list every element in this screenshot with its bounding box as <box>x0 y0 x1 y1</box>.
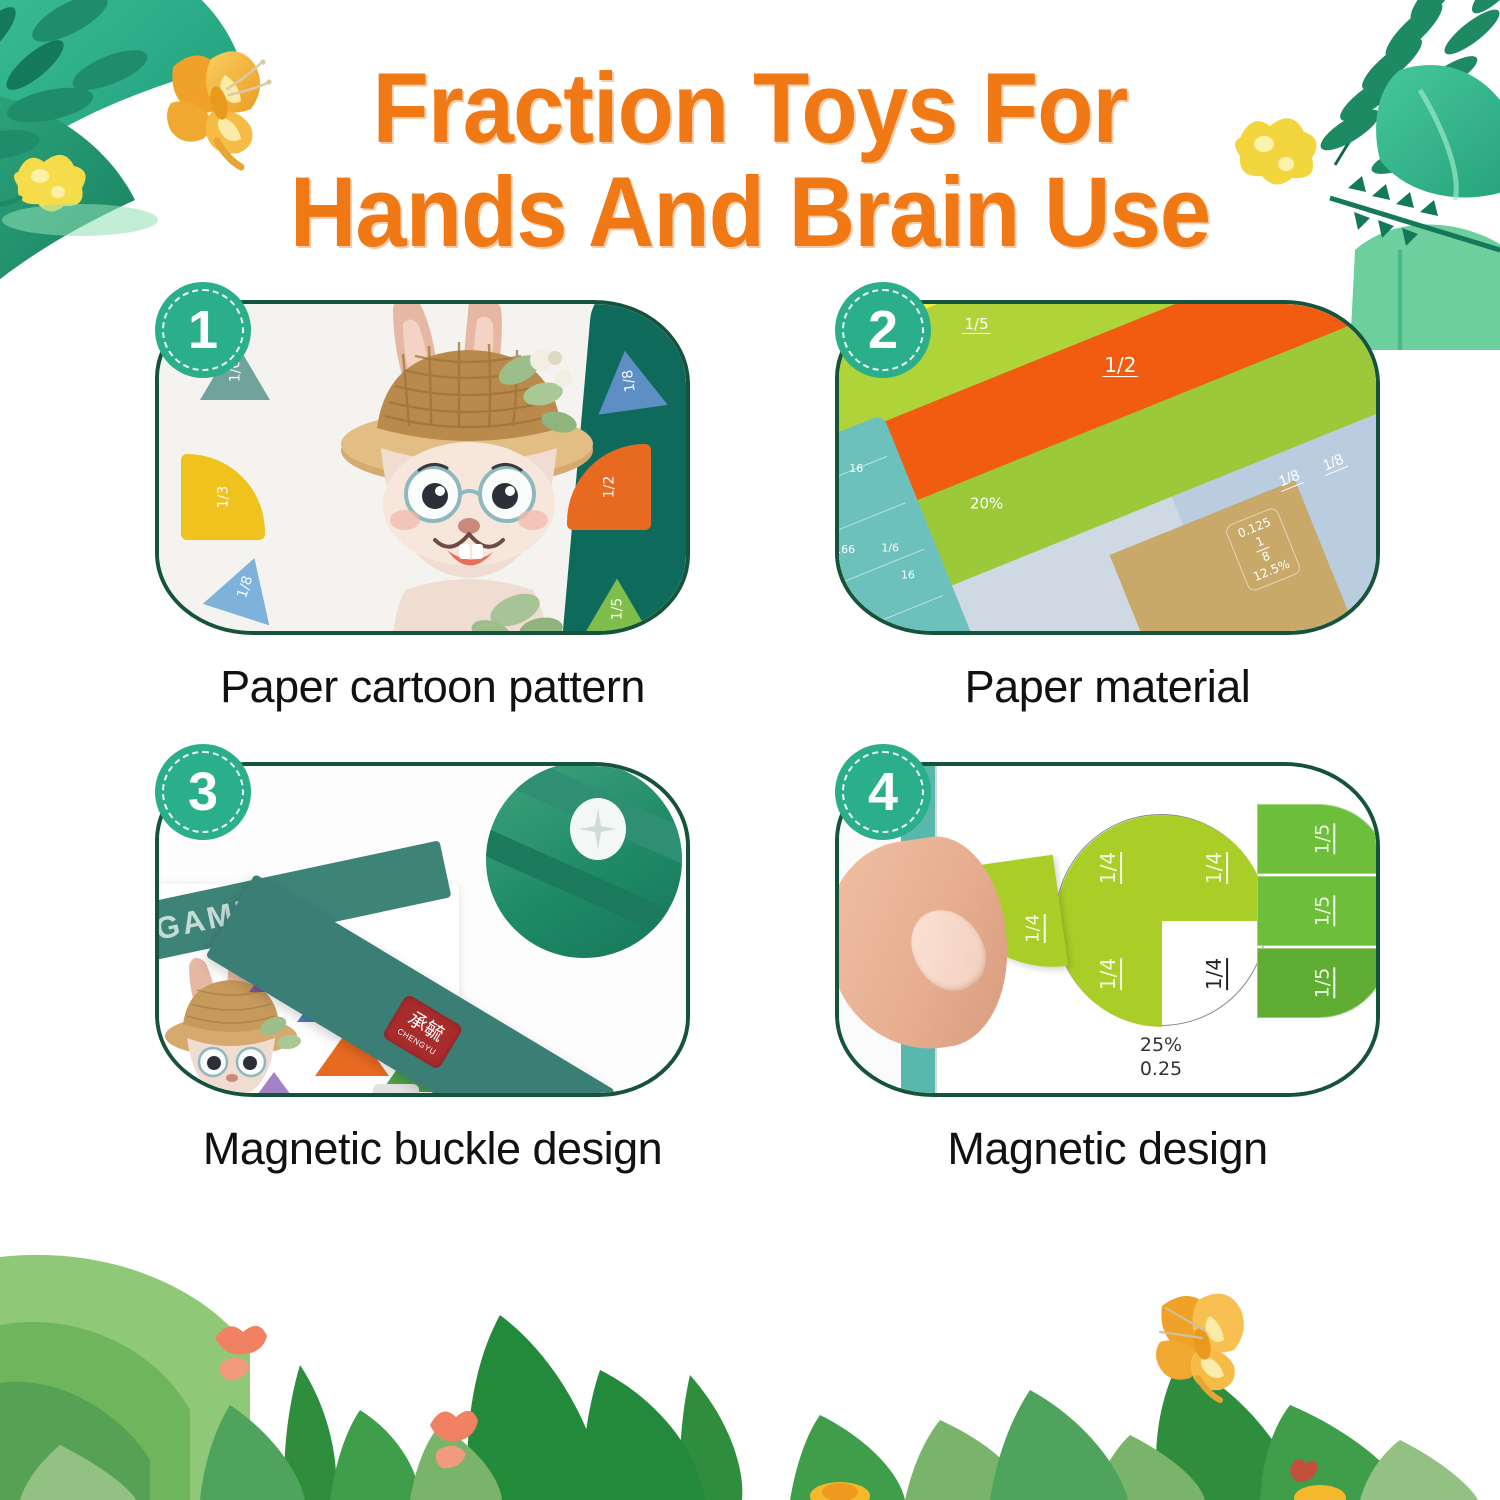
magnet-dot-icon <box>570 798 626 860</box>
panel-badge-4: 4 <box>835 744 931 840</box>
white-chip <box>373 1084 419 1097</box>
brand-label: 承毓 CHENGYU <box>381 993 463 1070</box>
page-title-line-1: Fraction Toys For <box>53 56 1448 160</box>
flower-red-right <box>1290 1459 1318 1482</box>
panel-badge-4-number: 4 <box>868 765 898 819</box>
panel-1-caption: Paper cartoon pattern <box>145 661 720 713</box>
page-title-line-2: Hands And Brain Use <box>53 160 1448 264</box>
panel-badge-3-number: 3 <box>188 765 218 819</box>
panel-2-caption: Paper material <box>815 661 1400 713</box>
value-decimal: 0.25 <box>1055 1058 1267 1082</box>
panel-badge-3: 3 <box>155 744 251 840</box>
feature-panel-3: 3 <box>110 762 720 1175</box>
feature-panel-1: 1 1/6 1/3 1/8 1/8 1/2 <box>110 300 720 713</box>
panel-badge-1: 1 <box>155 282 251 378</box>
value-percent: 25% <box>1055 1034 1267 1058</box>
feature-panel-grid: 1 1/6 1/3 1/8 1/8 1/2 <box>110 300 1400 1240</box>
fifths-piece-group: 1/5 1/5 1/5 <box>1257 804 1380 1022</box>
fifth-piece: 1/5 <box>1257 876 1380 946</box>
panel-badge-2-number: 2 <box>868 303 898 357</box>
panel-badge-2: 2 <box>835 282 931 378</box>
flower-orange-mid <box>810 1482 870 1500</box>
page-header: Fraction Toys For Hands And Brain Use <box>0 56 1500 264</box>
panel-badge-1-number: 1 <box>188 303 218 357</box>
fifth-piece: 1/5 <box>1257 804 1380 874</box>
feature-panel-4: 4 1/4 1/4 1/4 1 <box>790 762 1400 1175</box>
fraction-circle-outline: 1/4 1/4 1/4 1/4 <box>1055 814 1267 1026</box>
panel-3-caption: Magnetic buckle design <box>145 1123 720 1175</box>
flower-salmon-mid <box>430 1411 478 1468</box>
thumbnail <box>896 896 999 1004</box>
flower-orange-right <box>1294 1485 1346 1500</box>
bunny-illustration <box>319 300 609 635</box>
bunny-face <box>381 442 557 578</box>
butterfly-icon-bottom <box>1140 1290 1280 1410</box>
fifth-piece: 1/5 <box>1257 948 1380 1018</box>
feature-panel-2: 2 1/4 1/4 1/4 1/5 1/5 1/6 <box>790 300 1400 713</box>
bunny-body <box>393 579 565 635</box>
foliage-bottom-decoration <box>0 1210 1500 1500</box>
magnet-closeup-inset <box>486 762 682 958</box>
panel-4-caption: Magnetic design <box>815 1123 1400 1175</box>
value-readout: 25% 0.25 <box>1055 1034 1267 1082</box>
flower-salmon-left <box>215 1326 267 1380</box>
